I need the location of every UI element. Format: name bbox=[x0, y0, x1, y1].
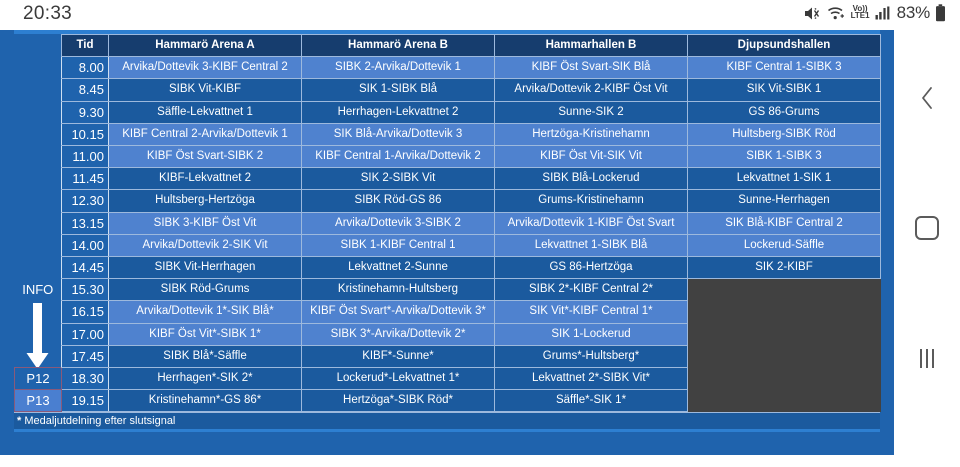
match-cell: SIK 2-SIBK Vit bbox=[302, 168, 495, 190]
row-time: 14.00 bbox=[62, 234, 109, 256]
match-cell: Hultsberg-SIBK Röd bbox=[688, 123, 881, 145]
table-row: P1218.30Herrhagen*-SIK 2*Lockerud*-Lekva… bbox=[15, 368, 881, 390]
header-djupsundshallen: Djupsundshallen bbox=[688, 35, 881, 57]
match-cell: Hertzöga*-SIBK Röd* bbox=[302, 390, 495, 412]
match-cell-empty bbox=[688, 368, 881, 390]
table-row: 14.45SIBK Vit-HerrhagenLekvattnet 2-Sunn… bbox=[15, 257, 881, 279]
table-row: 17.45SIBK Blå*-SäffleKIBF*-Sunne*Grums*-… bbox=[15, 345, 881, 367]
row-time: 12.30 bbox=[62, 190, 109, 212]
row-time: 13.15 bbox=[62, 212, 109, 234]
row-time: 16.15 bbox=[62, 301, 109, 323]
match-cell: SIBK Vit-KIBF bbox=[109, 79, 302, 101]
nav-home-button[interactable] bbox=[894, 208, 960, 248]
match-cell: Grums*-Hultsberg* bbox=[495, 345, 688, 367]
match-cell: Hertzöga-Kristinehamn bbox=[495, 123, 688, 145]
match-cell: KIBF Öst Vit*-SIBK 1* bbox=[109, 323, 302, 345]
match-cell-empty bbox=[688, 390, 881, 412]
match-cell: Arvika/Dottevik 3-SIBK 2 bbox=[302, 212, 495, 234]
row-time: 9.30 bbox=[62, 101, 109, 123]
match-cell: SIBK 1-SIBK 3 bbox=[688, 146, 881, 168]
match-cell-empty bbox=[688, 345, 881, 367]
row-time: 17.00 bbox=[62, 323, 109, 345]
header-hammaro-arena-a: Hammarö Arena A bbox=[109, 35, 302, 57]
match-cell: Lekvattnet 1-SIBK Blå bbox=[495, 234, 688, 256]
mute-icon bbox=[803, 5, 822, 22]
table-row: 9.30Säffle-Lekvattnet 1Herrhagen-Lekvatt… bbox=[15, 101, 881, 123]
match-cell: SIBK 3*-Arvika/Dottevik 2* bbox=[302, 323, 495, 345]
match-cell: Arvika/Dottevik 3-KIBF Central 2 bbox=[109, 57, 302, 79]
match-cell: Arvika/Dottevik 2-KIBF Öst Vit bbox=[495, 79, 688, 101]
table-row: 11.00KIBF Öst Svart-SIBK 2KIBF Central 1… bbox=[15, 146, 881, 168]
match-cell: SIK Vit-SIBK 1 bbox=[688, 79, 881, 101]
header-hammarhallen-b: Hammarhallen B bbox=[495, 35, 688, 57]
match-cell: SIBK Blå-Lockerud bbox=[495, 168, 688, 190]
match-cell: Lekvattnet 2-Sunne bbox=[302, 257, 495, 279]
nav-recents-button[interactable] bbox=[894, 338, 960, 378]
match-cell: Arvika/Dottevik 2-SIK Vit bbox=[109, 234, 302, 256]
match-cell: SIBK Röd-Grums bbox=[109, 279, 302, 301]
status-bar: 20:33 Vo)) LTE1 bbox=[0, 0, 960, 30]
match-cell: SIK 1-Lockerud bbox=[495, 323, 688, 345]
match-cell: KIBF Central 2-Arvika/Dottevik 1 bbox=[109, 123, 302, 145]
match-cell: KIBF*-Sunne* bbox=[302, 345, 495, 367]
match-cell-empty bbox=[688, 301, 881, 323]
match-cell: Grums-Kristinehamn bbox=[495, 190, 688, 212]
match-cell: KIBF Öst Svart-SIBK 2 bbox=[109, 146, 302, 168]
match-cell: SIBK Röd-GS 86 bbox=[302, 190, 495, 212]
table-row: 10.15KIBF Central 2-Arvika/Dottevik 1SIK… bbox=[15, 123, 881, 145]
match-cell: Lekvattnet 2*-SIBK Vit* bbox=[495, 368, 688, 390]
android-nav-bar bbox=[894, 30, 960, 467]
match-cell: SIK Vit*-KIBF Central 1* bbox=[495, 301, 688, 323]
match-cell: KIBF Öst Svart*-Arvika/Dottevik 3* bbox=[302, 301, 495, 323]
match-cell-empty bbox=[688, 279, 881, 301]
signal-icon bbox=[875, 5, 892, 21]
match-cell: KIBF Öst Vit-SIK Vit bbox=[495, 146, 688, 168]
match-cell: Säffle-Lekvattnet 1 bbox=[109, 101, 302, 123]
table-row: 8.00Arvika/Dottevik 3-KIBF Central 2SIBK… bbox=[15, 57, 881, 79]
info-arrow bbox=[15, 301, 62, 368]
row-time: 11.45 bbox=[62, 168, 109, 190]
match-cell: KIBF Central 1-Arvika/Dottevik 2 bbox=[302, 146, 495, 168]
match-cell: SIBK Blå*-Säffle bbox=[109, 345, 302, 367]
row-time: 19.15 bbox=[62, 390, 109, 412]
table-row: 8.45SIBK Vit-KIBFSIK 1-SIBK BlåArvika/Do… bbox=[15, 79, 881, 101]
match-cell: Lockerud-Säffle bbox=[688, 234, 881, 256]
match-cell: KIBF-Lekvattnet 2 bbox=[109, 168, 302, 190]
match-cell: Hultsberg-Hertzöga bbox=[109, 190, 302, 212]
phone-screen: 20:33 Vo)) LTE1 bbox=[0, 0, 960, 467]
schedule-sheet: Tid Hammarö Arena A Hammarö Arena B Hamm… bbox=[0, 30, 894, 455]
header-hammaro-arena-b: Hammarö Arena B bbox=[302, 35, 495, 57]
match-cell: Sunne-Herrhagen bbox=[688, 190, 881, 212]
row-time: 17.45 bbox=[62, 345, 109, 367]
row-time: 14.45 bbox=[62, 257, 109, 279]
schedule-table: Tid Hammarö Arena A Hammarö Arena B Hamm… bbox=[14, 34, 881, 412]
match-cell: Herrhagen-Lekvattnet 2 bbox=[302, 101, 495, 123]
table-head: Tid Hammarö Arena A Hammarö Arena B Hamm… bbox=[15, 35, 881, 57]
row-time: 8.45 bbox=[62, 79, 109, 101]
nav-back-button[interactable] bbox=[894, 78, 960, 118]
table-row: 13.15SIBK 3-KIBF Öst VitArvika/Dottevik … bbox=[15, 212, 881, 234]
table-row: 14.00Arvika/Dottevik 2-SIK VitSIBK 1-KIB… bbox=[15, 234, 881, 256]
sheet-bottom-edge bbox=[14, 429, 880, 432]
row-time: 11.00 bbox=[62, 146, 109, 168]
table-row: 16.15Arvika/Dottevik 1*-SIK Blå*KIBF Öst… bbox=[15, 301, 881, 323]
match-cell: SIK Blå-Arvika/Dottevik 3 bbox=[302, 123, 495, 145]
match-cell: KIBF Central 1-SIBK 3 bbox=[688, 57, 881, 79]
info-label: INFO bbox=[15, 279, 62, 301]
match-cell: Herrhagen*-SIK 2* bbox=[109, 368, 302, 390]
status-clock: 20:33 bbox=[23, 3, 72, 25]
table-row: INFO15.30SIBK Röd-GrumsKristinehamn-Hult… bbox=[15, 279, 881, 301]
side-spacer bbox=[15, 57, 62, 279]
match-cell: KIBF Öst Svart-SIK Blå bbox=[495, 57, 688, 79]
match-cell: Kristinehamn*-GS 86* bbox=[109, 390, 302, 412]
match-cell: SIBK 3-KIBF Öst Vit bbox=[109, 212, 302, 234]
match-cell: SIBK Vit-Herrhagen bbox=[109, 257, 302, 279]
battery-icon bbox=[935, 4, 946, 22]
match-cell: GS 86-Hertzöga bbox=[495, 257, 688, 279]
lte-label: LTE1 bbox=[851, 13, 870, 20]
row-time: 18.30 bbox=[62, 368, 109, 390]
p13-badge: P13 bbox=[15, 390, 62, 412]
match-cell: SIBK 1-KIBF Central 1 bbox=[302, 234, 495, 256]
match-cell: Säffle*-SIK 1* bbox=[495, 390, 688, 412]
row-time: 8.00 bbox=[62, 57, 109, 79]
footnote-text: Medaljutdelning efter slutsignal bbox=[24, 415, 175, 427]
home-icon bbox=[915, 216, 939, 240]
header-row: Tid Hammarö Arena A Hammarö Arena B Hamm… bbox=[15, 35, 881, 57]
match-cell: Arvika/Dottevik 1*-SIK Blå* bbox=[109, 301, 302, 323]
match-cell: SIK Blå-KIBF Central 2 bbox=[688, 212, 881, 234]
wifi-icon bbox=[827, 5, 846, 21]
table-row: 12.30Hultsberg-HertzögaSIBK Röd-GS 86Gru… bbox=[15, 190, 881, 212]
match-cell: Sunne-SIK 2 bbox=[495, 101, 688, 123]
match-cell: Arvika/Dottevik 1-KIBF Öst Svart bbox=[495, 212, 688, 234]
header-tid: Tid bbox=[62, 35, 109, 57]
p12-badge: P12 bbox=[15, 368, 62, 390]
header-blank bbox=[15, 35, 62, 57]
lte-icon: Vo)) LTE1 bbox=[851, 6, 870, 19]
match-cell: SIBK 2-Arvika/Dottevik 1 bbox=[302, 57, 495, 79]
table-row: P1319.15Kristinehamn*-GS 86*Hertzöga*-SI… bbox=[15, 390, 881, 412]
match-cell: SIK 2-KIBF bbox=[688, 257, 881, 279]
match-cell: GS 86-Grums bbox=[688, 101, 881, 123]
footnote-star: * bbox=[17, 415, 21, 427]
match-cell: Kristinehamn-Hultsberg bbox=[302, 279, 495, 301]
table-row: 17.00KIBF Öst Vit*-SIBK 1*SIBK 3*-Arvika… bbox=[15, 323, 881, 345]
table-body: 8.00Arvika/Dottevik 3-KIBF Central 2SIBK… bbox=[15, 57, 881, 412]
match-cell: SIK 1-SIBK Blå bbox=[302, 79, 495, 101]
table-row: 11.45KIBF-Lekvattnet 2SIK 2-SIBK VitSIBK… bbox=[15, 168, 881, 190]
footnote: * Medaljutdelning efter slutsignal bbox=[14, 412, 880, 429]
match-cell: SIBK 2*-KIBF Central 2* bbox=[495, 279, 688, 301]
match-cell: Lockerud*-Lekvattnet 1* bbox=[302, 368, 495, 390]
status-icons: Vo)) LTE1 83% bbox=[803, 3, 946, 23]
recents-icon bbox=[920, 349, 934, 368]
match-cell: Lekvattnet 1-SIK 1 bbox=[688, 168, 881, 190]
down-arrow-icon bbox=[33, 303, 42, 368]
match-cell-empty bbox=[688, 323, 881, 345]
row-time: 10.15 bbox=[62, 123, 109, 145]
row-time: 15.30 bbox=[62, 279, 109, 301]
battery-percent-label: 83% bbox=[897, 3, 930, 23]
